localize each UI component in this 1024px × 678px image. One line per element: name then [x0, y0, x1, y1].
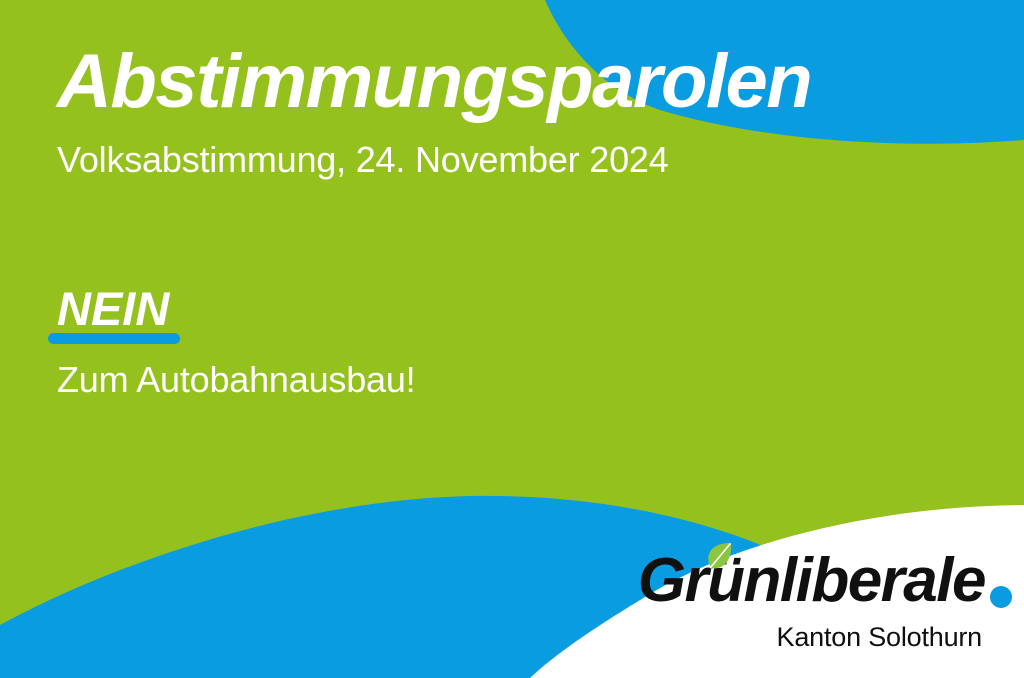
blue-dot-icon: [990, 586, 1012, 608]
page-subtitle: Volksabstimmung, 24. November 2024: [57, 120, 811, 178]
poster-canvas: Abstimmungsparolen Volksabstimmung, 24. …: [0, 0, 1024, 678]
recommendation-subject: Zum Autobahnausbau!: [57, 348, 415, 398]
logo-subtitle-text: Kanton Solothurn: [612, 614, 1012, 651]
recommendation-verdict: NEIN: [57, 285, 169, 332]
page-title: Abstimmungsparolen: [57, 44, 811, 120]
logo-wordmark-row: Grünliberale: [612, 548, 1012, 614]
leaf-icon: [705, 541, 735, 571]
recommendation-verdict-wrap: NEIN: [57, 285, 169, 348]
headline-block: Abstimmungsparolen Volksabstimmung, 24. …: [57, 44, 811, 178]
content-layer: Abstimmungsparolen Volksabstimmung, 24. …: [0, 0, 1024, 678]
logo-wordmark-text: Grünliberale: [638, 548, 985, 614]
recommendation-block: NEIN Zum Autobahnausbau!: [57, 285, 415, 398]
recommendation-underline-bar: [48, 333, 180, 344]
party-logo: Grünliberale Kanton Solothurn: [612, 548, 1012, 651]
